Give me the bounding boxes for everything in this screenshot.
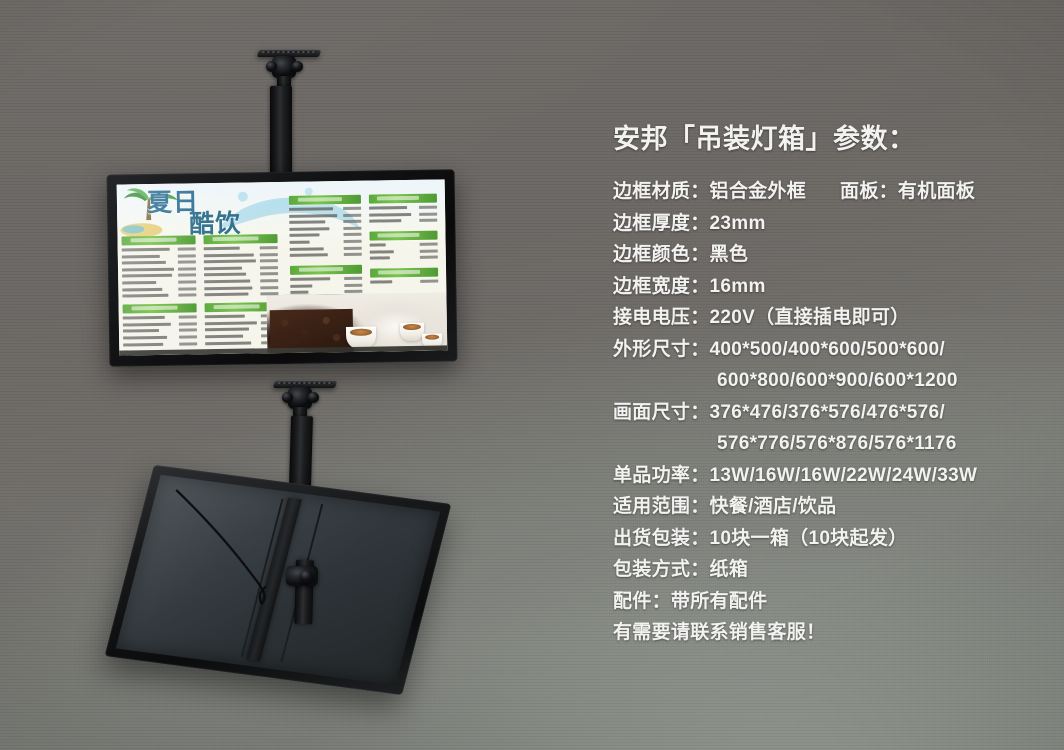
spec-value: 黑色	[710, 239, 749, 271]
spec-key: 包装方式：	[613, 554, 710, 586]
spec-key: 边框宽度：	[613, 271, 710, 303]
spec-key: 适用范围：	[613, 491, 710, 523]
spec-line-frame-material: 边框材质： 铝合金外框 面板：有机面板	[613, 176, 1043, 208]
swivel-knob-icon	[282, 392, 293, 403]
spec-key: 单品功率：	[613, 460, 710, 492]
lightbox-rear-view	[0, 0, 560, 750]
spec-line-power: 单品功率： 13W/16W/16W/22W/24W/33W	[613, 460, 1043, 492]
lightbox-rear-panel	[105, 465, 452, 695]
spec-line-voltage: 接电电压： 220V（直接插电即可）	[613, 302, 1043, 334]
spec-key: 画面尺寸：	[613, 397, 710, 429]
spec-title: 安邦「吊装灯箱」参数：	[613, 122, 1043, 156]
spec-value: 23mm	[710, 208, 766, 240]
product-photo-canvas: 夏日 酷饮	[0, 0, 1064, 750]
spec-line-shipping-pack: 出货包装： 10块一箱（10块起发）	[613, 523, 1043, 555]
tilt-knob-icon	[300, 570, 313, 583]
spec-value: 10块一箱（10块起发）	[710, 523, 908, 555]
spec-key: 边框厚度：	[613, 208, 710, 240]
spec-value-secondary: 面板：有机面板	[840, 176, 975, 208]
spec-line-application: 适用范围： 快餐/酒店/饮品	[613, 491, 1043, 523]
spec-value: 13W/16W/16W/22W/24W/33W	[710, 460, 978, 492]
spec-line-frame-thickness: 边框厚度： 23mm	[613, 208, 1043, 240]
spec-value: 600*800/600*900/600*1200	[717, 365, 958, 397]
spec-line-frame-color: 边框颜色： 黑色	[613, 239, 1043, 271]
spec-value: 220V（直接插电即可）	[710, 302, 910, 334]
spec-key: 接电电压：	[613, 302, 710, 334]
spec-line-outer-size-cont: 600*800/600*900/600*1200	[613, 365, 1043, 397]
spec-key: 边框材质：	[613, 176, 710, 208]
spec-value: 400*500/400*600/500*600/	[710, 334, 945, 366]
spec-panel: 安邦「吊装灯箱」参数： 边框材质： 铝合金外框 面板：有机面板 边框厚度： 23…	[613, 122, 1043, 649]
spec-key: 出货包装：	[613, 523, 710, 555]
spec-key: 配件：	[613, 586, 671, 618]
spec-line-contact-cta: 有需要请联系销售客服！	[613, 617, 1043, 649]
spec-value: 纸箱	[710, 554, 749, 586]
spec-line-frame-width: 边框宽度： 16mm	[613, 271, 1043, 303]
swivel-knob-icon	[308, 392, 319, 403]
spec-value: 16mm	[710, 271, 766, 303]
spec-line-graphic-size: 画面尺寸： 376*476/376*576/476*576/	[613, 397, 1043, 429]
spec-line-packing-method: 包装方式： 纸箱	[613, 554, 1043, 586]
spec-key: 边框颜色：	[613, 239, 710, 271]
spec-value: 铝合金外框	[710, 176, 807, 208]
spec-value: 376*476/376*576/476*576/	[710, 397, 945, 429]
spec-key: 有需要请联系销售客服！	[613, 617, 825, 649]
spec-value: 带所有配件	[671, 586, 768, 618]
spec-value: 快餐/酒店/饮品	[710, 491, 837, 523]
spec-line-graphic-size-cont: 576*776/576*876/576*1176	[613, 428, 1043, 460]
spec-key: 外形尺寸：	[613, 334, 710, 366]
spec-line-outer-size: 外形尺寸： 400*500/400*600/500*600/	[613, 334, 1043, 366]
back-plate	[116, 475, 440, 685]
spec-line-accessories: 配件： 带所有配件	[613, 586, 1043, 618]
spec-value: 576*776/576*876/576*1176	[717, 428, 957, 460]
